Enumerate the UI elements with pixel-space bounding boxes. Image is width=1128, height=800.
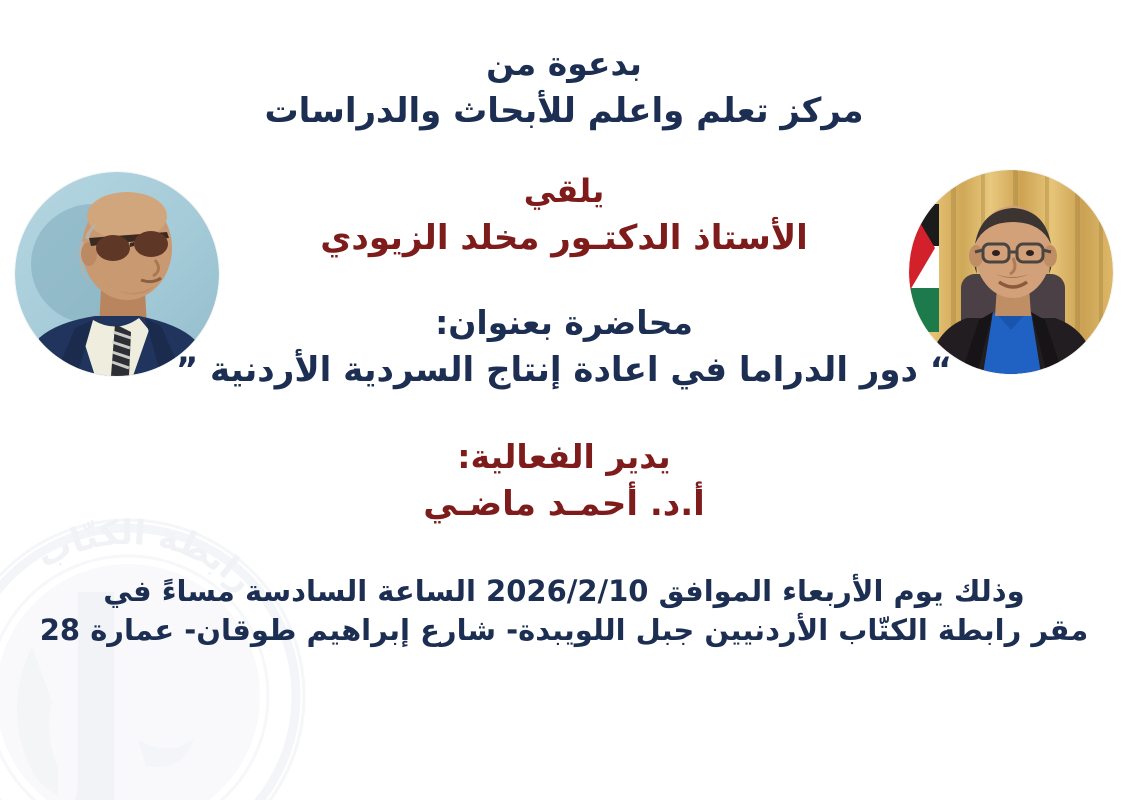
host-block: يدير الفعالية: أ.د. أحمـد ماضـي [423, 439, 705, 523]
lecture-label: محاضرة بعنوان: [176, 305, 952, 342]
event-venue: مقر رابطة الكتّاب الأردنيين جبل اللويبدة… [40, 614, 1089, 646]
lecture-block: محاضرة بعنوان: “ دور الدراما في اعادة إن… [176, 305, 952, 389]
speaker-label: يلقي [320, 174, 808, 210]
invitation-prefix: بدعوة من [264, 46, 863, 83]
speaker-block: يلقي الأستاذ الدكتـور مخلد الزيودي [320, 174, 808, 257]
host-label: يدير الفعالية: [423, 439, 705, 476]
speaker-name: الأستاذ الدكتـور مخلد الزيودي [320, 219, 808, 257]
event-poster: رابطة الكتّاب الأردنيين [0, 0, 1128, 800]
event-datetime: وذلك يوم الأربعاء الموافق 2026/2/10 السا… [40, 575, 1089, 607]
host-name: أ.د. أحمـد ماضـي [423, 485, 705, 523]
when-where-block: وذلك يوم الأربعاء الموافق 2026/2/10 السا… [40, 575, 1089, 647]
organizer-name: مركز تعلم واعلم للأبحاث والدراسات [264, 92, 863, 130]
speaker-photo-left [15, 172, 219, 376]
speaker-photo-right [909, 170, 1113, 374]
invitation-block: بدعوة من مركز تعلم واعلم للأبحاث والدراس… [264, 46, 863, 130]
poster-text-content: بدعوة من مركز تعلم واعلم للأبحاث والدراس… [0, 0, 1128, 800]
lecture-title: “ دور الدراما في اعادة إنتاج السردية الأ… [176, 351, 952, 389]
